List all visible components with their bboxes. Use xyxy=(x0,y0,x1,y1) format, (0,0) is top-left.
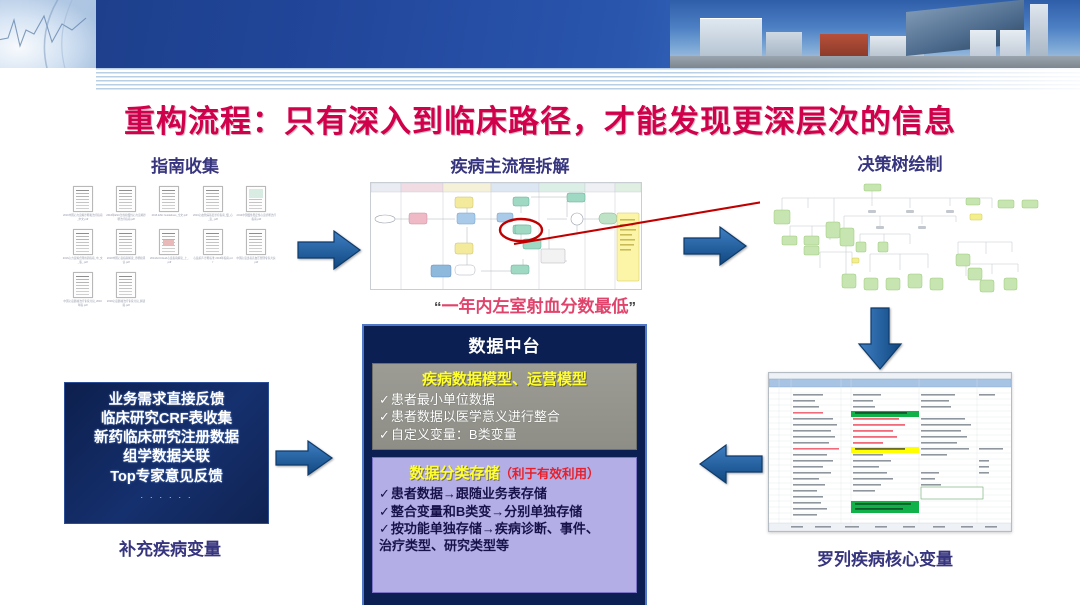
card-item-text: 患者数据→跟随业务表存储 xyxy=(391,486,547,501)
ellipsis-marker: · · · · · · xyxy=(140,492,193,502)
arrow-right-guides-to-process xyxy=(296,228,362,272)
file-caption: 2016 ESC Guidelines_全文.pdf xyxy=(149,214,189,218)
page-title: 重构流程：只有深入到临床路径，才能发现更深层次的信息 xyxy=(0,96,1080,141)
card-heading: 数据分类存储（利于有效利用） xyxy=(379,462,630,483)
card-item: ✓整合变量和B类变→分别单独存储 xyxy=(379,503,630,520)
list-item[interactable]: 2016心血管病基层诊疗指南_慢_心_衰_.pdf xyxy=(192,186,233,229)
check-icon: ✓ xyxy=(379,409,390,424)
annotation-text: 一年内左室射血分数最低 xyxy=(442,297,629,316)
quote-open: “ xyxy=(434,299,442,316)
card-data-storage: 数据分类存储（利于有效利用） ✓患者数据→跟随业务表存储 ✓整合变量和B类变→分… xyxy=(372,457,637,593)
pdf-file-icon xyxy=(246,229,266,255)
corner-artwork xyxy=(0,0,96,68)
flowchart-svg xyxy=(371,183,641,289)
pdf-file-icon xyxy=(73,229,93,255)
list-item[interactable]: 2016心力衰竭合理用药指南_中_文_版_.pdf xyxy=(62,229,103,272)
list-item[interactable]: 中国心衰患者高血压管理专家共识.pdf xyxy=(236,229,277,272)
source-line: 业务需求直接反馈 xyxy=(109,391,225,410)
header-stripes-fade xyxy=(96,68,1080,90)
data-platform-panel: 数据中台 疾病数据模型、运营模型 ✓患者最小单位数据 ✓患者数据以医学意义进行整… xyxy=(362,324,647,605)
card-item-text: 患者最小单位数据 xyxy=(391,392,495,407)
file-caption: 2014中国慢性稳定性心衰诊断治疗指南.pdf xyxy=(236,214,276,222)
file-caption: 2014ACC/AHA心衰指南解读_上_.pdf xyxy=(149,257,189,265)
file-caption: 2016年ESC急性和慢性心力衰竭诊断治疗指南.pdf xyxy=(106,214,146,222)
section-label-supplement: 补充疾病变量 xyxy=(55,535,285,560)
section-label-process: 疾病主流程拆解 xyxy=(380,152,640,177)
check-icon: ✓ xyxy=(379,504,390,519)
card-item: ✓患者数据以医学意义进行整合 xyxy=(379,408,630,425)
supplement-sources-box: 业务需求直接反馈 临床研究CRF表收集 新药临床研究注册数据 组学数据关联 To… xyxy=(64,382,269,524)
pdf-file-icon xyxy=(116,272,136,298)
file-caption: 2016心血管病基层诊疗指南_慢_心_衰_.pdf xyxy=(193,214,233,222)
list-item[interactable]: 2016年ESC急性和慢性心力衰竭诊断治疗指南.pdf xyxy=(105,186,146,229)
hospital-building-photo xyxy=(670,0,1080,68)
arrow-right-leftbox-to-platform xyxy=(274,438,334,478)
pdf-file-icon xyxy=(116,186,136,212)
quote-close: ” xyxy=(629,299,637,316)
source-line: 新药临床研究注册数据 xyxy=(94,429,239,448)
list-item[interactable]: 中国心衰器械治疗专家共识_2016年版.pdf xyxy=(62,272,103,315)
pdf-file-icon xyxy=(73,186,93,212)
list-item[interactable]: 2014ACC/AHA心衰指南解读_上_.pdf xyxy=(149,229,190,272)
card-item-text: 自定义变量：B类变量 xyxy=(391,427,517,442)
card-item-continuation: 治疗类型、研究类型等 xyxy=(379,537,630,554)
guideline-file-grid: 2016中国心力衰竭诊断和治疗指南_中文.pdf 2016年ESC急性和慢性心力… xyxy=(62,186,277,316)
card-item-text: 按功能单独存储→疾病诊断、事件、 xyxy=(391,521,599,536)
annotation-quote: “一年内左室射血分数最低” xyxy=(370,292,700,317)
file-caption: 2018心衰器械治疗专家共识_解读版.pdf xyxy=(106,300,146,308)
file-caption: 2016中国心力衰竭诊断和治疗指南_中文.pdf xyxy=(63,214,103,222)
file-caption: 心衰超声 诊断标准 2016年指南.pdf xyxy=(193,257,233,265)
pdf-file-icon xyxy=(246,186,266,212)
section-label-guides: 指南收集 xyxy=(60,152,310,177)
file-caption: 2018中国心衰指南解读_诊断和评估.pdf xyxy=(106,257,146,265)
slide-canvas: 重构流程：只有深入到临床路径，才能发现更深层次的信息 指南收集 疾病主流程拆解 … xyxy=(0,0,1080,605)
list-item[interactable]: 2018心衰器械治疗专家共识_解读版.pdf xyxy=(105,272,146,315)
variables-spreadsheet[interactable] xyxy=(768,372,1012,532)
decision-tree-diagram[interactable] xyxy=(760,182,1050,300)
check-icon: ✓ xyxy=(379,392,390,407)
pdf-file-icon xyxy=(203,186,223,212)
check-icon: ✓ xyxy=(379,521,390,536)
arrow-left-spreadsheet-to-platform xyxy=(692,442,764,486)
pdf-file-icon xyxy=(159,229,179,255)
file-caption: 2016心力衰竭合理用药指南_中_文_版_.pdf xyxy=(63,257,103,265)
card-heading: 疾病数据模型、运营模型 xyxy=(379,368,630,389)
pdf-file-icon xyxy=(159,186,179,212)
arrow-down-tree-to-spreadsheet xyxy=(856,306,904,372)
card-item: ✓自定义变量：B类变量 xyxy=(379,426,630,443)
file-caption: 中国心衰患者高血压管理专家共识.pdf xyxy=(236,257,276,265)
list-item[interactable]: 2016中国心力衰竭诊断和治疗指南_中文.pdf xyxy=(62,186,103,229)
header-banner xyxy=(0,0,1080,68)
card-heading-main: 数据分类存储 xyxy=(409,465,499,482)
list-item[interactable]: 2014中国慢性稳定性心衰诊断治疗指南.pdf xyxy=(236,186,277,229)
decision-tree-svg xyxy=(760,182,1048,298)
section-label-tree: 决策树绘制 xyxy=(790,150,1010,175)
card-heading-note: （利于有效利用） xyxy=(500,467,600,481)
card-item: ✓患者数据→跟随业务表存储 xyxy=(379,485,630,502)
ecg-line-icon xyxy=(0,0,96,68)
list-item[interactable]: 2018中国心衰指南解读_诊断和评估.pdf xyxy=(105,229,146,272)
arrow-right-process-to-tree xyxy=(682,224,748,268)
card-disease-model: 疾病数据模型、运营模型 ✓患者最小单位数据 ✓患者数据以医学意义进行整合 ✓自定… xyxy=(372,363,637,450)
pdf-file-icon xyxy=(116,229,136,255)
check-icon: ✓ xyxy=(379,486,390,501)
source-line: 临床研究CRF表收集 xyxy=(101,410,232,429)
spreadsheet-svg xyxy=(769,373,1011,531)
data-platform-title: 数据中台 xyxy=(372,332,637,357)
disease-process-flowchart[interactable] xyxy=(370,182,642,290)
source-line: Top专家意见反馈 xyxy=(110,468,223,487)
section-label-variables: 罗列疾病核心变量 xyxy=(760,545,1010,570)
card-item-text: 患者数据以医学意义进行整合 xyxy=(391,409,560,424)
list-item[interactable]: 2016 ESC Guidelines_全文.pdf xyxy=(149,186,190,229)
list-item[interactable]: 心衰超声 诊断标准 2016年指南.pdf xyxy=(192,229,233,272)
check-icon: ✓ xyxy=(379,427,390,442)
file-caption: 中国心衰器械治疗专家共识_2016年版.pdf xyxy=(63,300,103,308)
card-item-text: 整合变量和B类变→分别单独存储 xyxy=(391,504,582,519)
pdf-file-icon xyxy=(73,272,93,298)
pdf-file-icon xyxy=(203,229,223,255)
source-line: 组学数据关联 xyxy=(123,448,210,467)
card-item: ✓患者最小单位数据 xyxy=(379,391,630,408)
card-item: ✓按功能单独存储→疾病诊断、事件、 xyxy=(379,520,630,537)
